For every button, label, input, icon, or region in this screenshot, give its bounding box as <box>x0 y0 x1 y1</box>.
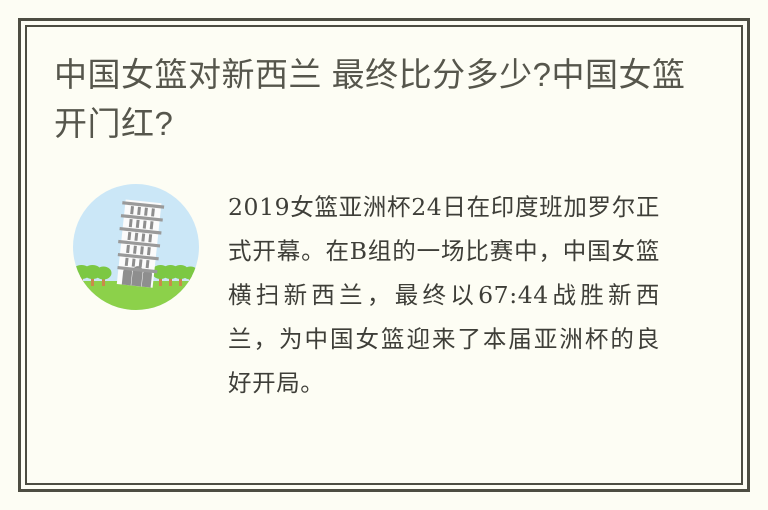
leaning-tower-of-pisa-icon <box>72 183 200 311</box>
page-title: 中国女篮对新西兰 最终比分多少?中国女篮开门红? <box>54 51 694 149</box>
article-body-text: 2019女篮亚洲杯24日在印度班加罗尔正式开幕。在B组的一场比赛中，中国女篮横扫… <box>228 183 660 406</box>
article-body-row: 2019女篮亚洲杯24日在印度班加罗尔正式开幕。在B组的一场比赛中，中国女篮横扫… <box>54 183 713 406</box>
article-card: 中国女篮对新西兰 最终比分多少?中国女篮开门红? <box>0 0 768 510</box>
article-thumbnail <box>72 183 200 311</box>
article-content: 中国女篮对新西兰 最终比分多少?中国女篮开门红? <box>25 25 743 485</box>
